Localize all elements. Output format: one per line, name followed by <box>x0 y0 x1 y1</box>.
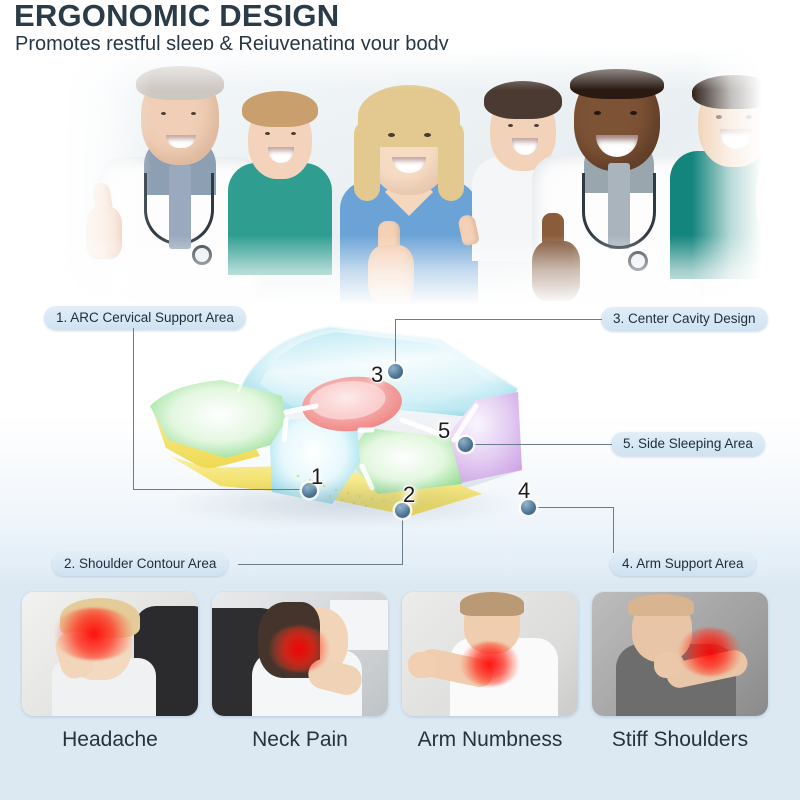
page-title: ERGONOMIC DESIGN <box>14 0 339 34</box>
pain-highlight-head <box>52 608 136 660</box>
leader-line-5-horizontal <box>466 444 612 445</box>
condition-card-stiff-shoulders[interactable] <box>592 592 768 716</box>
callout-label-5[interactable]: 5. Side Sleeping Area <box>611 432 765 456</box>
condition-label-neck-pain: Neck Pain <box>212 728 388 752</box>
leader-line-3-vertical <box>395 319 396 368</box>
photo-arm-numbness <box>402 592 578 716</box>
pain-highlight-arm <box>460 642 520 686</box>
infographic-page: ERGONOMIC DESIGN Promotes restful sleep … <box>0 0 800 800</box>
condition-card-neck-pain[interactable] <box>212 592 388 716</box>
condition-label-stiff-shoulders: Stiff Shoulders <box>592 728 768 752</box>
leader-line-4-vertical <box>613 507 614 553</box>
marker-number-5: 5 <box>438 418 450 444</box>
callout-label-2[interactable]: 2. Shoulder Contour Area <box>52 552 228 576</box>
photo-neck-pain <box>212 592 388 716</box>
callout-label-3[interactable]: 3. Center Cavity Design <box>601 307 768 331</box>
condition-card-headache[interactable] <box>22 592 198 716</box>
marker-number-4: 4 <box>518 478 530 504</box>
pain-highlight-shoulder <box>678 628 742 676</box>
condition-card-arm-numbness[interactable] <box>402 592 578 716</box>
pain-conditions-row: Headache Neck Pain <box>0 592 800 800</box>
pain-highlight-neck <box>268 626 330 672</box>
leader-line-1-vertical <box>133 328 134 490</box>
pillow-drop-shadow <box>165 480 525 528</box>
leader-line-3-horizontal <box>395 319 602 320</box>
leader-line-2-horizontal <box>238 564 403 565</box>
leader-line-1-horizontal <box>133 489 308 490</box>
photo-stiff-shoulders <box>592 592 768 716</box>
callout-label-1[interactable]: 1. ARC Cervical Support Area <box>44 306 246 330</box>
condition-label-headache: Headache <box>22 728 198 752</box>
marker-dot-5[interactable] <box>458 437 473 452</box>
medical-team-banner-photo <box>62 50 762 305</box>
marker-number-2: 2 <box>403 482 415 508</box>
leader-line-2-vertical <box>402 511 403 565</box>
photo-headache <box>22 592 198 716</box>
marker-dot-3[interactable] <box>388 364 403 379</box>
marker-number-3: 3 <box>371 362 383 388</box>
marker-number-1: 1 <box>311 464 323 490</box>
condition-label-arm-numbness: Arm Numbness <box>402 728 578 752</box>
callout-label-4[interactable]: 4. Arm Support Area <box>610 552 756 576</box>
leader-line-4-horizontal <box>530 507 614 508</box>
